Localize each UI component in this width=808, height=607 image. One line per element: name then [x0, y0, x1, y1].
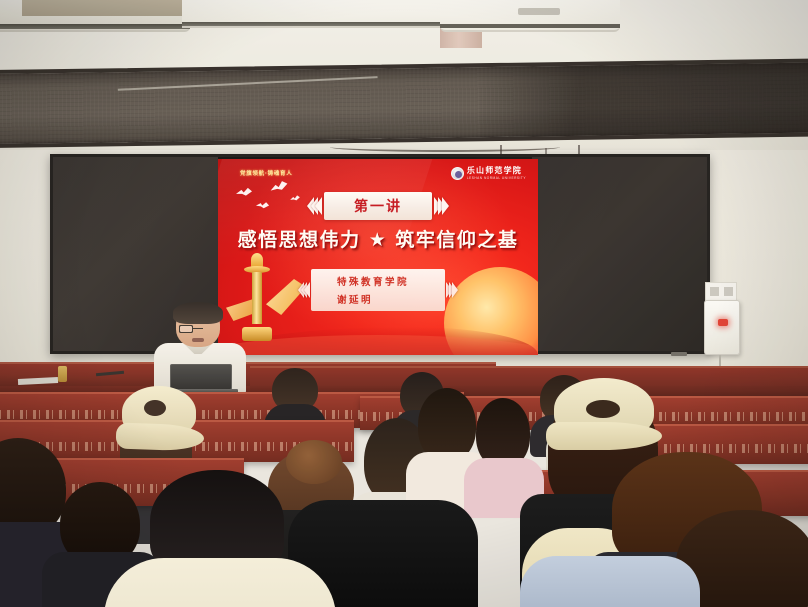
chevron-icon — [437, 197, 449, 215]
chapter-ribbon: 第一讲 — [307, 192, 449, 220]
laptop-screen — [170, 364, 232, 390]
status-indicator-light — [718, 319, 728, 326]
attendee-hair-bun — [286, 440, 342, 484]
presenter-plate: 特殊教育学院 谢延明 — [311, 269, 445, 311]
presenter-mouth — [192, 338, 204, 342]
screen-slogan-small: 党旗领航·铸魂育人 — [240, 169, 292, 177]
chapter-label: 第一讲 — [354, 199, 402, 215]
attendee-torso — [520, 556, 700, 607]
chapter-plate: 第一讲 — [324, 192, 432, 220]
ac-vent-right — [440, 24, 620, 28]
drinking-cup — [58, 366, 67, 382]
monument-finial — [251, 253, 263, 267]
attendee-torso — [104, 558, 336, 607]
lecture-hall-photo: 党旗领航·铸魂育人 乐山师范学院 LESHAN NORMAL UNIVERSIT… — [0, 0, 808, 607]
wall-control-unit[interactable] — [704, 300, 740, 355]
ceiling-panel — [22, 0, 182, 16]
led-presentation-screen[interactable]: 党旗领航·铸魂育人 乐山师范学院 LESHAN NORMAL UNIVERSIT… — [218, 159, 538, 355]
university-seal-icon — [451, 167, 464, 180]
ac-brand-logo — [518, 8, 560, 15]
university-name-en: LESHAN NORMAL UNIVERSITY — [467, 177, 526, 180]
attendee-hair — [418, 388, 476, 462]
university-name-block: 乐山师范学院 LESHAN NORMAL UNIVERSITY — [467, 167, 526, 180]
acoustic-panel-band — [0, 59, 808, 148]
cap-brim — [546, 422, 662, 450]
ac-vent-left — [0, 24, 190, 29]
university-logo: 乐山师范学院 LESHAN NORMAL UNIVERSITY — [451, 167, 526, 180]
presenter-hair — [173, 302, 223, 324]
presenter-ribbon: 特殊教育学院 谢延明 — [298, 269, 458, 311]
main-title-text: 感悟思想伟力 ★ 筑牢信仰之基 — [238, 229, 519, 251]
glasses-icon — [179, 325, 217, 333]
screen-main-title: 感悟思想伟力 ★ 筑牢信仰之基 — [218, 225, 538, 252]
cap-buckle-hole — [144, 400, 166, 416]
blackboard-assembly: 党旗领航·铸魂育人 乐山师范学院 LESHAN NORMAL UNIVERSIT… — [50, 154, 710, 354]
university-name-cn: 乐山师范学院 — [467, 167, 526, 175]
panel-shadow — [479, 63, 808, 138]
chevron-icon — [449, 282, 458, 298]
chevron-icon — [307, 197, 319, 215]
wall-notice-card — [705, 282, 737, 302]
chevron-icon — [298, 282, 307, 298]
cap-buckle-hole — [586, 400, 620, 418]
presenter-label: 特殊教育学院 谢延明 — [337, 277, 409, 306]
monument-column — [252, 272, 262, 324]
